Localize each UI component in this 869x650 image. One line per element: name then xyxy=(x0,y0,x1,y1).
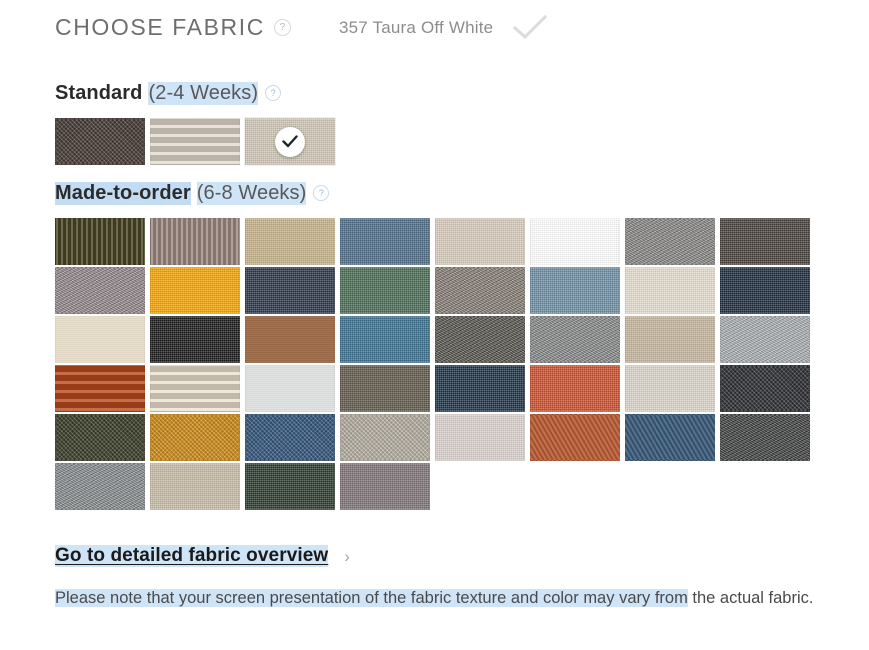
fabric-swatch[interactable] xyxy=(150,267,240,314)
fabric-swatch[interactable] xyxy=(530,365,620,412)
fabric-overview-link-row: Go to detailed fabric overview › xyxy=(55,545,350,567)
fabric-swatch[interactable] xyxy=(245,414,335,461)
fabric-swatch[interactable] xyxy=(55,316,145,363)
fabric-swatch[interactable] xyxy=(625,365,715,412)
fabric-swatch[interactable] xyxy=(530,316,620,363)
fabric-swatch[interactable] xyxy=(245,267,335,314)
fabric-swatch[interactable] xyxy=(340,463,430,510)
group-name: Standard xyxy=(55,82,142,105)
fabric-swatch[interactable] xyxy=(435,414,525,461)
fabric-swatch[interactable] xyxy=(625,267,715,314)
fabric-disclaimer: Please note that your screen presentatio… xyxy=(55,586,830,611)
fabric-swatch[interactable] xyxy=(150,218,240,265)
fabric-swatch[interactable] xyxy=(625,218,715,265)
page-title: CHOOSE FABRIC xyxy=(55,14,265,41)
fabric-swatch[interactable] xyxy=(340,414,430,461)
fabric-swatch[interactable] xyxy=(150,414,240,461)
fabric-swatch[interactable] xyxy=(625,316,715,363)
group-heading: Made-to-order (6-8 Weeks) ? xyxy=(55,180,845,206)
checkmark-icon xyxy=(513,15,547,41)
fabric-swatch[interactable] xyxy=(435,218,525,265)
fabric-swatch[interactable] xyxy=(340,316,430,363)
fabric-swatch[interactable] xyxy=(245,463,335,510)
fabric-swatch[interactable] xyxy=(55,463,145,510)
fabric-group-standard: Standard (2-4 Weeks) ? xyxy=(55,80,845,167)
fabric-swatch[interactable] xyxy=(55,267,145,314)
disclaimer-rest: the actual fabric. xyxy=(688,589,814,607)
fabric-swatch[interactable] xyxy=(150,463,240,510)
fabric-swatch[interactable] xyxy=(340,267,430,314)
fabric-swatch[interactable] xyxy=(720,365,810,412)
fabric-swatch[interactable] xyxy=(55,118,145,165)
selected-check-badge xyxy=(275,127,305,157)
group-lead-time: (6-8 Weeks) xyxy=(197,182,307,205)
fabric-swatch[interactable] xyxy=(435,365,525,412)
fabric-swatch[interactable] xyxy=(435,316,525,363)
fabric-swatch[interactable] xyxy=(55,414,145,461)
fabric-swatch[interactable] xyxy=(150,118,240,165)
fabric-swatch[interactable] xyxy=(340,365,430,412)
fabric-swatch[interactable] xyxy=(530,267,620,314)
fabric-swatch[interactable] xyxy=(55,218,145,265)
fabric-header: CHOOSE FABRIC ? 357 Taura Off White xyxy=(55,14,547,41)
disclaimer-highlighted: Please note that your screen presentatio… xyxy=(55,589,688,607)
selected-fabric-label: 357 Taura Off White xyxy=(339,18,493,38)
fabric-swatch[interactable] xyxy=(720,218,810,265)
fabric-swatch[interactable] xyxy=(720,267,810,314)
fabric-swatch[interactable] xyxy=(150,365,240,412)
fabric-swatch[interactable] xyxy=(55,365,145,412)
fabric-group-made-to-order: Made-to-order (6-8 Weeks) ? xyxy=(55,180,845,512)
choose-fabric-panel: CHOOSE FABRIC ? 357 Taura Off White Stan… xyxy=(0,0,869,650)
group-heading: Standard (2-4 Weeks) ? xyxy=(55,80,845,106)
fabric-swatch[interactable] xyxy=(625,414,715,461)
fabric-swatch[interactable] xyxy=(530,414,620,461)
fabric-swatch[interactable] xyxy=(150,316,240,363)
fabric-swatch[interactable] xyxy=(435,267,525,314)
info-circle-icon[interactable]: ? xyxy=(265,85,281,101)
group-name: Made-to-order xyxy=(55,182,191,205)
fabric-swatch[interactable] xyxy=(245,218,335,265)
fabric-swatch[interactable] xyxy=(530,218,620,265)
detailed-fabric-overview-link[interactable]: Go to detailed fabric overview xyxy=(55,545,328,567)
fabric-swatch[interactable] xyxy=(245,316,335,363)
info-circle-icon[interactable]: ? xyxy=(313,185,329,201)
fabric-swatch[interactable] xyxy=(720,414,810,461)
fabric-swatch[interactable] xyxy=(245,365,335,412)
swatch-grid-standard xyxy=(55,118,845,167)
fabric-swatch[interactable] xyxy=(245,118,335,165)
checkmark-icon xyxy=(282,135,298,148)
swatch-grid-made-to-order xyxy=(55,218,845,512)
fabric-swatch[interactable] xyxy=(340,218,430,265)
group-lead-time: (2-4 Weeks) xyxy=(148,82,258,105)
info-circle-icon[interactable]: ? xyxy=(274,19,291,36)
chevron-right-icon[interactable]: › xyxy=(344,548,350,565)
fabric-swatch[interactable] xyxy=(720,316,810,363)
